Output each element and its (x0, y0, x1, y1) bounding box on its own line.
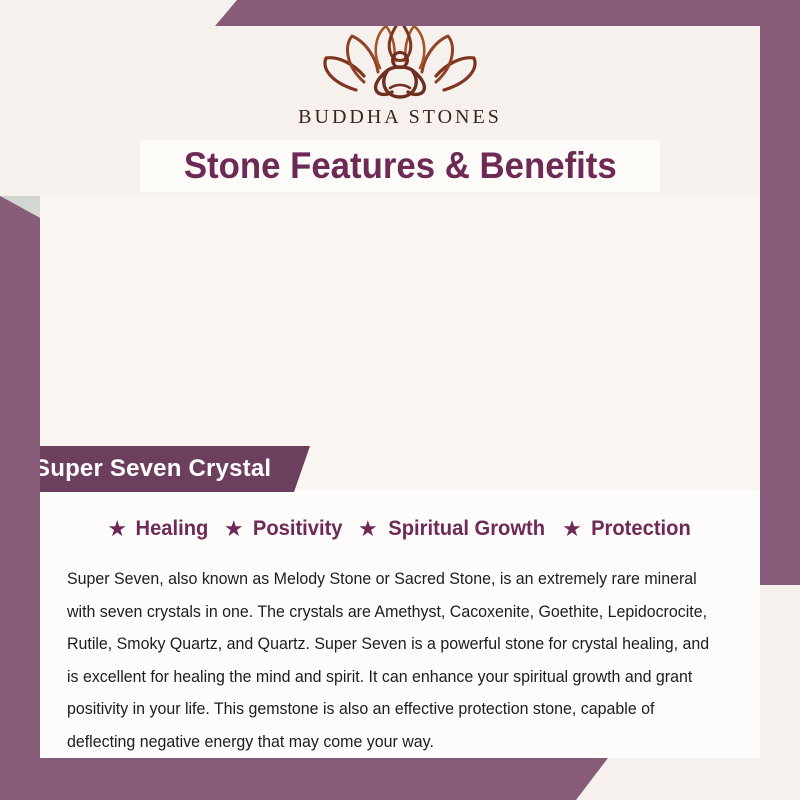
lotus-meditation-figure-icon (310, 16, 490, 102)
stone-name: Super Seven Crystal (34, 455, 271, 483)
benefits-row: ★ Healing ★ Positivity ★ Spiritual Growt… (40, 490, 760, 541)
brand-logo: BUDDHA STONES (0, 16, 800, 129)
title-banner: Stone Features & Benefits (140, 140, 660, 192)
benefit-label: Positivity (253, 517, 343, 541)
frame-band-bottom (0, 758, 608, 800)
page-title: Stone Features & Benefits (184, 145, 617, 187)
benefit-label: Protection (591, 517, 691, 541)
stone-name-banner: Super Seven Crystal (0, 446, 310, 492)
benefit-label: Healing (136, 517, 209, 541)
brand-name: BUDDHA STONES (298, 106, 502, 129)
star-icon: ★ (224, 518, 244, 540)
description-paragraph: Super Seven, also known as Melody Stone … (67, 563, 720, 759)
benefit-item: ★ Protection (562, 517, 693, 541)
star-icon: ★ (358, 518, 378, 540)
content-panel: ★ Healing ★ Positivity ★ Spiritual Growt… (40, 490, 760, 758)
star-icon: ★ (562, 518, 582, 540)
benefit-label: Spiritual Growth (388, 517, 545, 541)
star-icon: ★ (107, 518, 127, 540)
benefit-item: ★ Healing (107, 517, 210, 541)
benefit-item: ★ Spiritual Growth (358, 517, 548, 541)
benefit-item: ★ Positivity (224, 517, 344, 541)
